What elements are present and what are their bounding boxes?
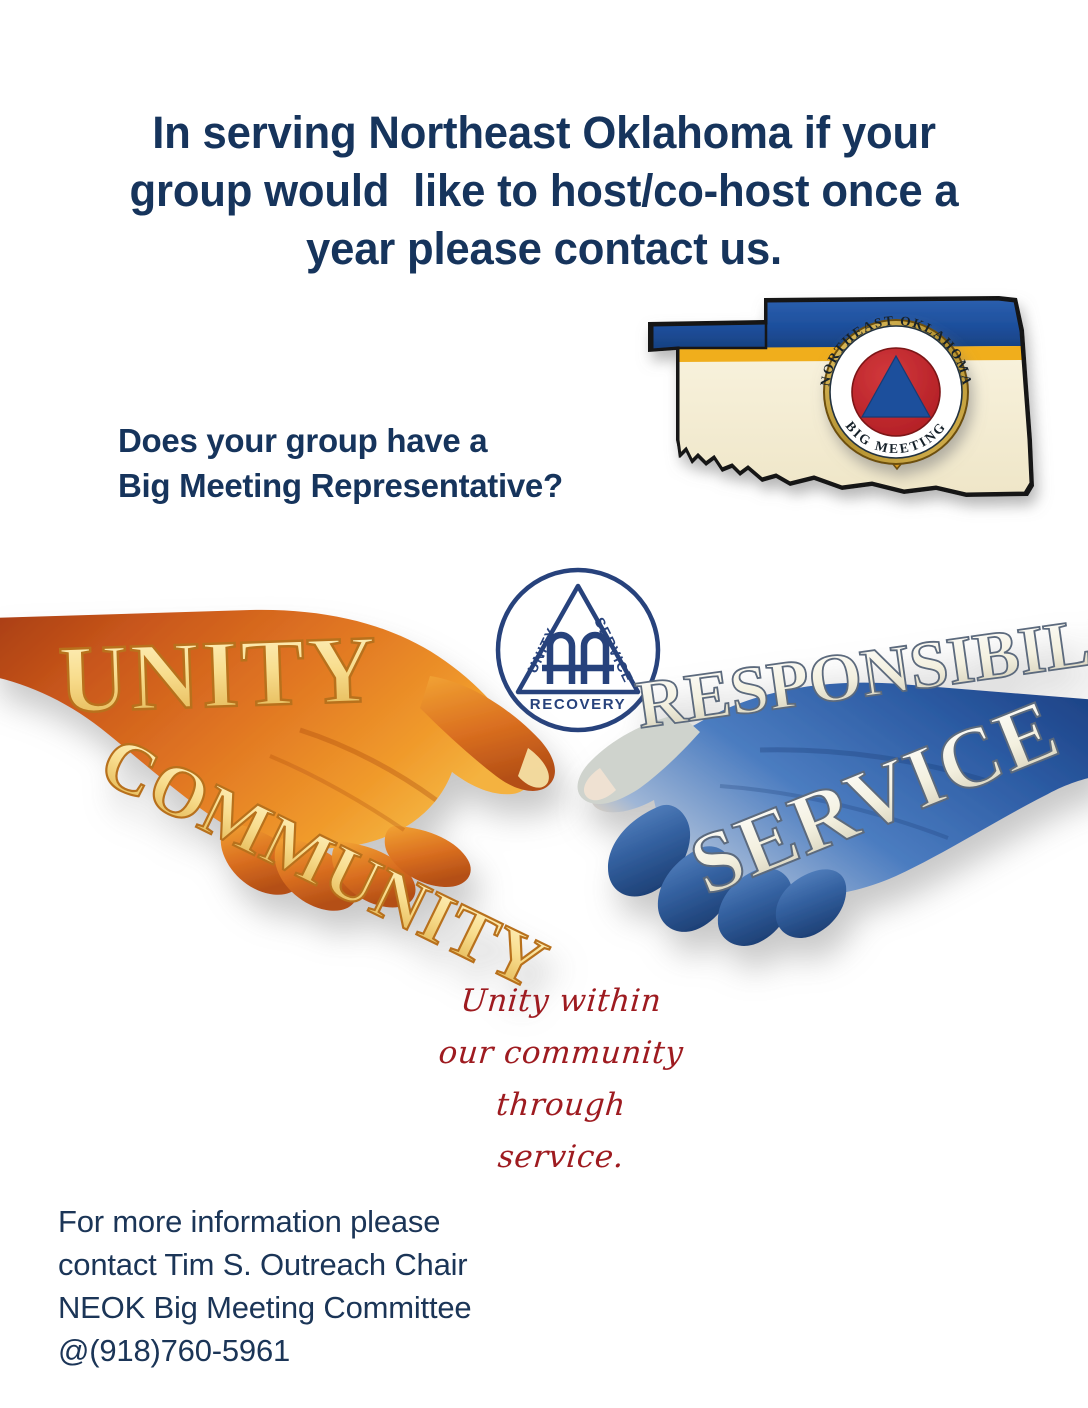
script-quote-line-1: Unity within — [418, 975, 705, 1027]
subheading-line-2: Big Meeting Representative? — [118, 463, 563, 508]
contact-phone[interactable]: @(918)760-5961 — [58, 1329, 471, 1372]
blue-hand: RESPONSIBILITY SERVICE — [578, 587, 1088, 946]
headline-line-1: In serving Northeast Oklahoma if your — [84, 104, 1004, 162]
contact-line-3: NEOK Big Meeting Committee — [58, 1286, 471, 1329]
subheading: Does your group have a Big Meeting Repre… — [118, 418, 563, 508]
contact-block: For more information please contact Tim … — [58, 1200, 471, 1372]
script-quote-line-3: through — [418, 1079, 705, 1131]
script-quote: Unity within our community through servi… — [420, 975, 702, 1183]
oklahoma-state-plaque: NORTHEAST OKLAHOMA BIG MEETING — [636, 290, 1056, 515]
subheading-line-1: Does your group have a — [118, 418, 563, 463]
hands-illustration: UNITY COMMUNITY R — [0, 580, 1088, 1020]
contact-line-1: For more information please — [58, 1200, 471, 1243]
script-quote-line-4: service. — [418, 1131, 705, 1183]
poster-canvas: In serving Northeast Oklahoma if your gr… — [0, 0, 1088, 1408]
headline-line-3: year please contact us. — [84, 220, 1004, 278]
orange-hand: UNITY COMMUNITY — [0, 610, 560, 1005]
orange-hand-word-unity: UNITY — [57, 615, 380, 733]
headline-line-2: group would like to host/co-host once a — [84, 162, 1004, 220]
script-quote-line-2: our community — [418, 1027, 705, 1079]
page-title: In serving Northeast Oklahoma if your gr… — [84, 104, 1004, 278]
contact-line-2: contact Tim S. Outreach Chair — [58, 1243, 471, 1286]
